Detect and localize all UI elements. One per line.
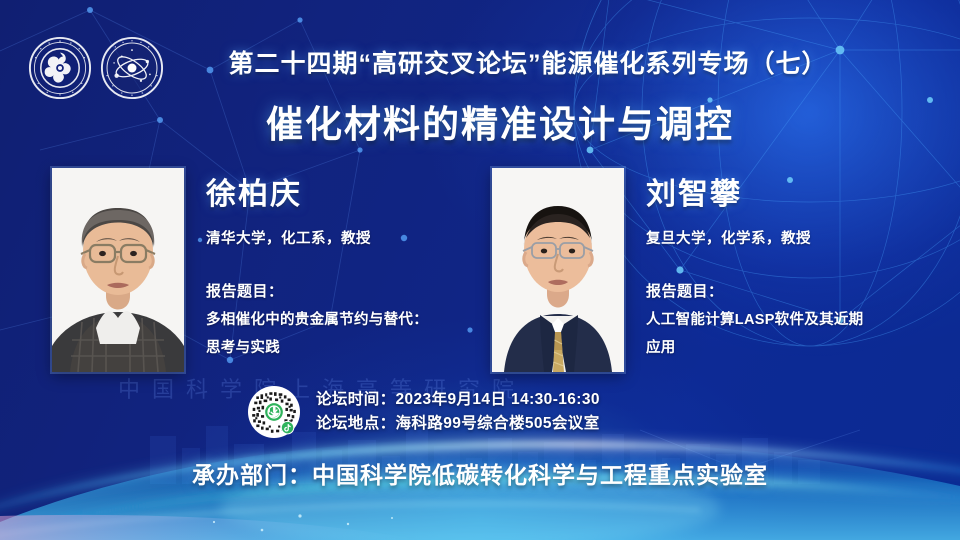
speaker-photo-2 <box>492 168 624 372</box>
event-time: 论坛时间：2023年9月14日 14:30-16:30 <box>316 388 600 412</box>
event-details: 论坛时间：2023年9月14日 14:30-16:30 论坛地点：海科路99号综… <box>248 386 600 438</box>
poster-canvas: 中国科学院上海高等研究院 <box>0 0 960 540</box>
portrait-illustration-2 <box>492 168 624 372</box>
talk-line-1a: 多相催化中的贵金属节约与替代： <box>206 308 428 329</box>
speaker-info-1: 徐柏庆 清华大学，化工系，教授 报告题目： 多相催化中的贵金属节约与替代： 思考… <box>206 168 428 357</box>
organizer-line: 承办部门：中国科学院低碳转化科学与工程重点实验室 <box>0 456 960 490</box>
talk-line-2b: 应用 <box>646 336 863 357</box>
talk-label-2: 报告题目： <box>646 280 863 301</box>
page-title: 催化材料的精准设计与调控 <box>0 94 960 148</box>
speaker-card-1: 徐柏庆 清华大学，化工系，教授 报告题目： 多相催化中的贵金属节约与替代： 思考… <box>52 168 428 372</box>
event-location: 论坛地点：海科路99号综合楼505会议室 <box>316 412 600 436</box>
speaker-photo-1 <box>52 168 184 372</box>
douyin-qr-code[interactable] <box>248 386 300 438</box>
douyin-note-badge <box>281 421 295 435</box>
speaker-affiliation-1: 清华大学，化工系，教授 <box>206 227 428 248</box>
event-details-text: 论坛时间：2023年9月14日 14:30-16:30 论坛地点：海科路99号综… <box>316 388 600 436</box>
portrait-illustration-1 <box>52 168 184 372</box>
talk-line-1b: 思考与实践 <box>206 336 428 357</box>
series-kicker: 第二十四期“高研交叉论坛”能源催化系列专场（七） <box>0 44 960 80</box>
talk-label-1: 报告题目： <box>206 280 428 301</box>
speaker-name-1: 徐柏庆 <box>206 178 428 211</box>
speaker-info-2: 刘智攀 复旦大学，化学系，教授 报告题目： 人工智能计算LASP软件及其近期 应… <box>646 168 863 357</box>
speaker-card-2: 刘智攀 复旦大学，化学系，教授 报告题目： 人工智能计算LASP软件及其近期 应… <box>492 168 863 372</box>
speaker-name-2: 刘智攀 <box>646 178 863 211</box>
speaker-affiliation-2: 复旦大学，化学系，教授 <box>646 227 863 248</box>
talk-line-2a: 人工智能计算LASP软件及其近期 <box>646 308 863 329</box>
